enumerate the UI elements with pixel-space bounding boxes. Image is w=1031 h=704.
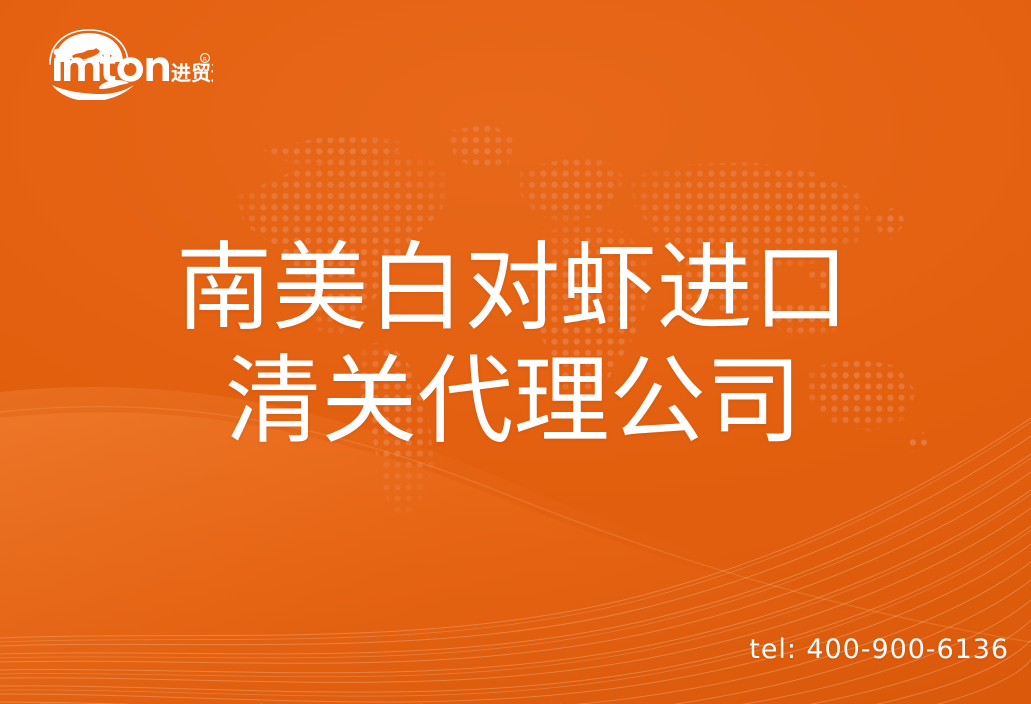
imton-logo[interactable]: 进贸通 R <box>38 28 213 100</box>
promo-banner: 进贸通 R 南美白对虾进口 清关代理公司 tel: 400-900-6136 <box>0 0 1031 704</box>
phone-number[interactable]: tel: 400-900-6136 <box>749 634 1009 665</box>
headline: 南美白对虾进口 清关代理公司 <box>0 232 1031 459</box>
svg-text:R: R <box>203 57 207 63</box>
logo-wordmark-chinese: 进贸通 <box>171 61 213 85</box>
headline-line-1: 南美白对虾进口 <box>0 232 1031 345</box>
headline-line-2: 清关代理公司 <box>0 345 1031 458</box>
